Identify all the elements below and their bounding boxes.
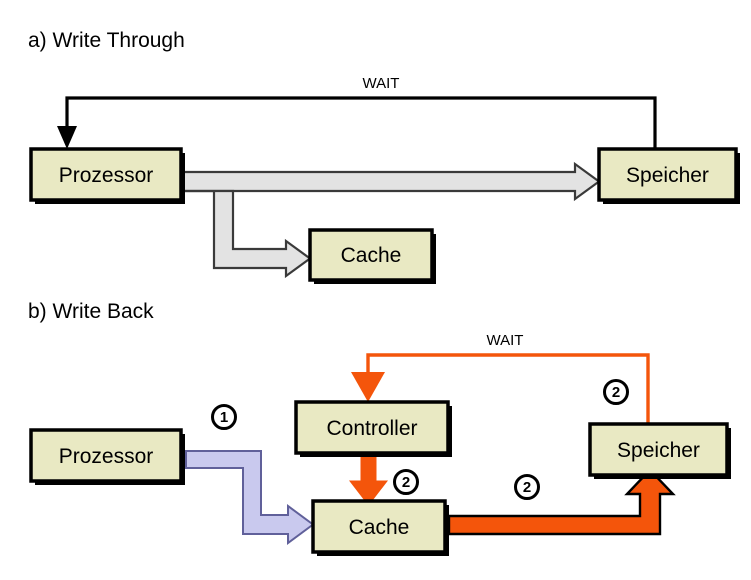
step-marker-1-prozessor-cache: 1 [213,406,236,429]
step-marker-2-wait: 2 [605,381,628,404]
node-label-speicher-b: Speicher [617,439,700,462]
step-marker-2-wait-value: 2 [612,384,620,401]
edge-prozessor-cache-gray [182,191,310,276]
node-label-cache-a: Cache [341,244,402,267]
edge-label-wait-b: WAIT [487,332,524,349]
edge-controller-cache-orange [350,457,387,505]
edge-cache-speicher-orange [449,470,673,534]
node-label-prozessor-a: Prozessor [59,164,154,187]
step-marker-2-cache-speicher-value: 2 [523,479,531,496]
node-cache-b[interactable]: Cache [313,501,449,556]
node-prozessor-a[interactable]: Prozessor [31,149,185,204]
step-marker-1-value: 1 [220,409,228,426]
node-cache-a[interactable]: Cache [310,230,436,284]
section-title-b: b) Write Back [28,300,154,323]
section-title-a: a) Write Through [28,29,185,52]
diagram-canvas: a) Write Through WAIT Prozessor Speicher… [0,0,751,580]
cache-write-policy-diagram: a) Write Through WAIT Prozessor Speicher… [0,0,751,580]
node-label-speicher-a: Speicher [626,164,709,187]
node-label-cache-b: Cache [349,516,410,539]
node-prozessor-b[interactable]: Prozessor [31,430,185,485]
node-speicher-b[interactable]: Speicher [590,424,731,479]
node-controller-b[interactable]: Controller [296,402,452,457]
node-speicher-a[interactable]: Speicher [599,149,740,204]
step-marker-2-controller-cache: 2 [395,471,418,494]
node-label-prozessor-b: Prozessor [59,445,154,468]
edge-prozessor-speicher-gray [182,164,599,199]
edge-label-wait-a: WAIT [363,75,400,92]
step-marker-2-cache-speicher: 2 [516,476,539,499]
step-marker-2-controller-value: 2 [402,474,410,491]
edge-prozessor-cache-lavender [186,451,313,543]
node-label-controller-b: Controller [326,417,417,440]
